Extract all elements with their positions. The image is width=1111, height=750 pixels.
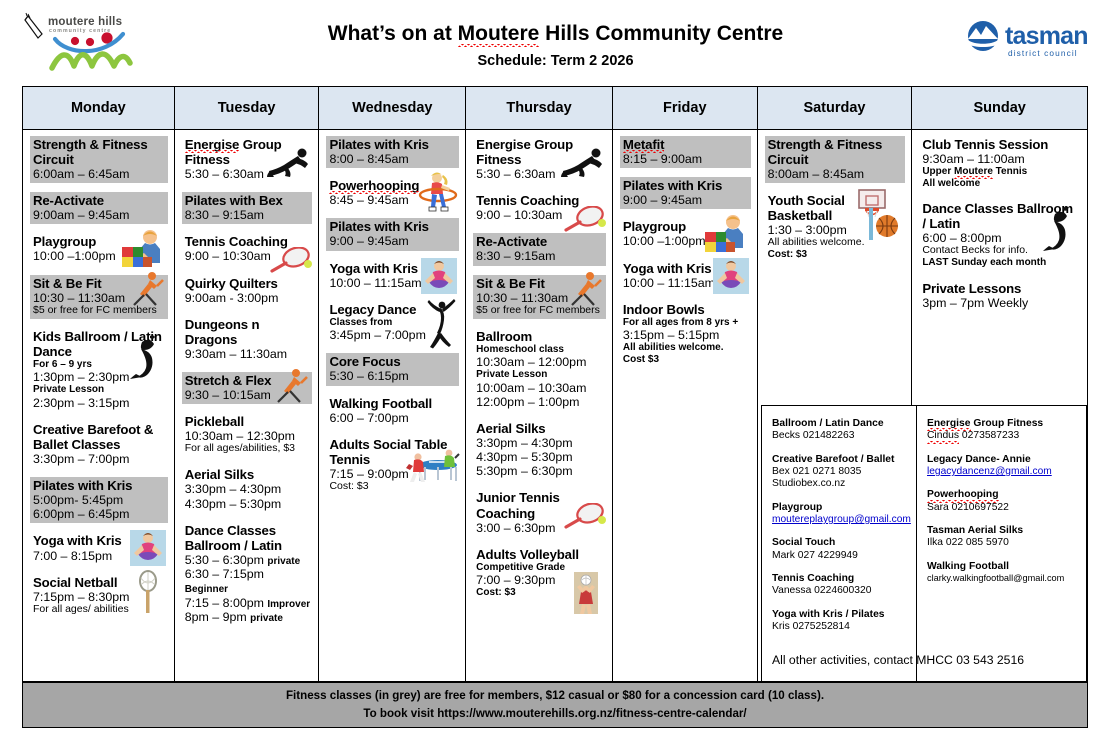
event-note: Contact Becks for info. xyxy=(922,245,1079,257)
event-title: Adults Volleyball xyxy=(476,547,604,562)
contacts-column-left: Ballroom / Latin DanceBecks 021482263Cre… xyxy=(762,406,917,681)
event-title: Yoga with Kris xyxy=(33,533,166,548)
event-note-2: Private Lesson xyxy=(476,369,604,380)
day-events-friday: Metafit8:15 – 9:00amPilates with Kris9:0… xyxy=(613,130,757,681)
event-note: All abilities welcome. xyxy=(768,237,904,249)
event-title: Playgroup xyxy=(33,234,166,249)
schedule-event[interactable]: Quirky Quilters9:00am - 3:00pm xyxy=(182,275,313,307)
event-title: Ballroom xyxy=(476,329,604,344)
day-column-monday: MondayStrength & Fitness Circuit6:00am –… xyxy=(23,87,175,681)
contact-entry: Tennis CoachingVanessa 0224600320 xyxy=(772,573,908,598)
event-time: 8:30 – 9:15am xyxy=(185,208,311,222)
poster-header: moutere hills community centre What’s on… xyxy=(0,0,1111,86)
event-title: Strength & Fitness Circuit xyxy=(33,137,166,167)
event-title: Metafit xyxy=(623,137,749,152)
event-time: 5:30 – 6:30am xyxy=(476,167,604,181)
event-note-2: Cost: $3 xyxy=(476,587,604,598)
schedule-event[interactable]: Tennis Coaching9:00 – 10:30am xyxy=(473,192,606,224)
footer-line-1: Fitness classes (in grey) are free for m… xyxy=(286,687,824,705)
event-time: 9:30am – 11:00am xyxy=(922,152,1079,166)
event-time-3: 7:15 – 8:00pm Improver xyxy=(185,596,311,610)
event-title: Pilates with Kris xyxy=(329,137,457,152)
event-time: 3pm – 7pm Weekly xyxy=(922,296,1079,310)
misspelled-word: Energise xyxy=(927,418,971,430)
event-title: Junior Tennis Coaching xyxy=(476,490,604,520)
event-time: 10:00 – 11:15am xyxy=(329,276,457,290)
day-events-tuesday: Energise Group Fitness5:30 – 6:30amPilat… xyxy=(175,130,319,681)
tasman-mountain-icon xyxy=(963,20,1003,52)
event-title: Dance Classes Ballroom / Latin xyxy=(922,201,1079,231)
day-header-sunday: Sunday xyxy=(912,87,1087,130)
contact-value: Becks 021482263 xyxy=(772,430,908,442)
schedule-event[interactable]: Powerhooping8:45 – 9:45am xyxy=(326,177,459,209)
event-time: 10:30 – 11:30am xyxy=(476,291,604,305)
schedule-event[interactable]: Youth Social Basketball1:30 – 3:00pmAll … xyxy=(765,192,906,263)
schedule-event[interactable]: Re-Activate8:30 – 9:15am xyxy=(473,233,606,265)
event-time-3: 5:30pm – 6:30pm xyxy=(476,464,604,478)
event-title: Pilates with Kris xyxy=(623,178,749,193)
event-title: Energise Group Fitness xyxy=(185,137,311,167)
event-time: 7:15pm – 8:30pm xyxy=(33,590,166,604)
event-time: 9:00 – 10:30am xyxy=(185,249,311,263)
event-title: Playgroup xyxy=(623,219,749,234)
schedule-event[interactable]: Walking Football6:00 – 7:00pm xyxy=(326,395,459,427)
schedule-event[interactable]: Core Focus5:30 – 6:15pm xyxy=(326,353,459,385)
schedule-event[interactable]: Strength & Fitness Circuit6:00am – 6:45a… xyxy=(30,136,168,183)
contact-email-link[interactable]: legacydancenz@gmail.com xyxy=(927,466,1078,478)
page-subtitle: Schedule: Term 2 2026 xyxy=(0,53,1111,69)
day-header-wednesday: Wednesday xyxy=(319,87,465,130)
event-time-suffix: private xyxy=(250,613,283,624)
event-time: 3:45pm – 7:00pm xyxy=(329,328,457,342)
event-time: 8:45 – 9:45am xyxy=(329,193,457,207)
contact-name: Walking Football xyxy=(927,561,1078,573)
event-note-2: LAST Sunday each month xyxy=(922,257,1079,268)
event-note: $5 or free for FC members xyxy=(476,305,604,317)
schedule-event[interactable]: Strength & Fitness Circuit8:00am – 8:45a… xyxy=(765,136,906,183)
contacts-column-right: Energise Group FitnessCindus 0273587233L… xyxy=(917,406,1086,681)
event-time-suffix: private xyxy=(267,556,300,567)
schedule-event[interactable]: Adults Social Table Tennis7:15 – 9:00pmC… xyxy=(326,436,459,495)
event-title: Indoor Bowls xyxy=(623,302,749,317)
schedule-event[interactable]: Tennis Coaching9:00 – 10:30am xyxy=(182,233,313,265)
event-time: 10:00 –1:00pm xyxy=(33,249,166,263)
contact-value: Bex 021 0271 8035 xyxy=(772,466,908,478)
schedule-event[interactable]: Energise Group Fitness5:30 – 6:30am xyxy=(182,136,313,183)
event-title: Stretch & Flex xyxy=(185,373,311,388)
event-time: 7:00 – 9:30pm xyxy=(476,573,604,587)
schedule-event[interactable]: Dance Classes Ballroom / Latin5:30 – 6:3… xyxy=(182,522,313,627)
day-column-tuesday: TuesdayEnergise Group Fitness5:30 – 6:30… xyxy=(175,87,320,681)
event-time: 8:30 – 9:15am xyxy=(476,249,604,263)
contact-name: Powerhooping xyxy=(927,489,1078,501)
misspelled-word: Moutere xyxy=(954,166,993,177)
schedule-event[interactable]: Pilates with Bex8:30 – 9:15am xyxy=(182,192,313,224)
event-time: 10:30am – 12:00pm xyxy=(476,355,604,369)
contact-name: Ballroom / Latin Dance xyxy=(772,418,908,430)
event-time-suffix: Beginner xyxy=(185,584,228,595)
schedule-event[interactable]: Dance Classes Ballroom / Latin6:00 – 8:0… xyxy=(919,200,1081,271)
day-events-thursday: Energise Group Fitness5:30 – 6:30amTenni… xyxy=(466,130,612,681)
event-note-2: Private Lesson xyxy=(33,384,166,395)
event-title: Aerial Silks xyxy=(476,421,604,436)
event-title: Youth Social Basketball xyxy=(768,193,904,223)
event-time: 9:00 – 10:30am xyxy=(476,208,604,222)
event-time-2: 2:30pm – 3:15pm xyxy=(33,396,166,410)
event-time: 3:15pm – 5:15pm xyxy=(623,328,749,342)
event-time: 10:30 – 11:30am xyxy=(33,291,166,305)
event-time: 9:30am – 11:30am xyxy=(185,347,311,361)
event-time: 3:30pm – 4:30pm xyxy=(476,436,604,450)
event-time: 7:15 – 9:00pm xyxy=(329,467,457,481)
title-part-2: Hills Community Centre xyxy=(539,22,783,45)
schedule-event[interactable]: Private Lessons3pm – 7pm Weekly xyxy=(919,280,1081,312)
contact-entry: Energise Group FitnessCindus 0273587233 xyxy=(927,418,1078,443)
event-title: Re-Activate xyxy=(476,234,604,249)
event-note: For all ages/abilities, $3 xyxy=(185,443,311,455)
schedule-event[interactable]: Pilates with Kris5:00pm- 5:45pm6:00pm – … xyxy=(30,477,168,523)
misspelled-word: Cindus xyxy=(927,430,959,442)
event-title: Powerhooping xyxy=(329,178,457,193)
contacts-panel: Ballroom / Latin DanceBecks 021482263Cre… xyxy=(761,405,1087,682)
event-title: Tennis Coaching xyxy=(476,193,604,208)
event-time-2: 4:30pm – 5:30pm xyxy=(476,450,604,464)
contact-name: Social Touch xyxy=(772,537,908,549)
event-note: Cost: $3 xyxy=(329,481,457,493)
contact-entry: Walking Footballclarky.walkingfootball@g… xyxy=(927,561,1078,584)
schedule-event[interactable]: Adults VolleyballCompetitive Grade7:00 –… xyxy=(473,546,606,601)
event-time: 6:00 – 7:00pm xyxy=(329,411,457,425)
event-title: Yoga with Kris xyxy=(329,261,457,276)
event-time: 5:00pm- 5:45pm xyxy=(33,493,166,507)
pricing-footer: Fitness classes (in grey) are free for m… xyxy=(22,682,1088,728)
schedule-event[interactable]: Stretch & Flex9:30 – 10:15am xyxy=(182,372,313,404)
misspelled-word: Powerhooping xyxy=(927,489,999,501)
event-title: Sit & Be Fit xyxy=(33,276,166,291)
contact-value: Vanessa 0224600320 xyxy=(772,585,908,597)
event-time: 10:00 –1:00pm xyxy=(623,234,749,248)
event-title: Pilates with Kris xyxy=(329,219,457,234)
contact-value: clarky.walkingfootball@gmail.com xyxy=(927,573,1078,584)
event-title: Private Lessons xyxy=(922,281,1079,296)
day-header-tuesday: Tuesday xyxy=(175,87,319,130)
event-title: Core Focus xyxy=(329,354,457,369)
event-title: Dance Classes Ballroom / Latin xyxy=(185,523,311,553)
title-misspelled-word: Moutere xyxy=(458,22,540,46)
misspelled-word: Powerhooping xyxy=(329,178,419,193)
schedule-event[interactable]: Sit & Be Fit10:30 – 11:30am$5 or free fo… xyxy=(473,275,606,319)
schedule-event[interactable]: Dungeons n Dragons9:30am – 11:30am xyxy=(182,316,313,363)
event-title: Yoga with Kris xyxy=(623,261,749,276)
contact-name: Energise Group Fitness xyxy=(927,418,1078,430)
day-column-friday: FridayMetafit8:15 – 9:00amPilates with K… xyxy=(613,87,758,681)
event-time: 1:30pm – 2:30pm xyxy=(33,370,166,384)
schedule-event[interactable]: Kids Ballroom / Latin DanceFor 6 – 9 yrs… xyxy=(30,328,168,412)
event-time: 8:00 – 8:45am xyxy=(329,152,457,166)
contact-value: Mark 027 4229949 xyxy=(772,550,908,562)
event-note-2: All abilities welcome. xyxy=(623,342,749,353)
contact-name: Creative Barefoot / Ballet xyxy=(772,454,908,466)
event-time: 9:00 – 9:45am xyxy=(329,234,457,248)
event-time: 9:30 – 10:15am xyxy=(185,388,311,402)
event-title: Pickleball xyxy=(185,414,311,429)
misspelled-word: Metafit xyxy=(623,137,664,152)
schedule-event[interactable]: Re-Activate9:00am – 9:45am xyxy=(30,192,168,224)
event-note-2: All welcome xyxy=(922,178,1079,189)
event-time-2: 10:00am – 10:30am xyxy=(476,381,604,395)
schedule-event[interactable]: BallroomHomeschool class10:30am – 12:00p… xyxy=(473,328,606,411)
tasman-logo-tagline: district council xyxy=(1008,48,1078,58)
event-time: 6:00am – 6:45am xyxy=(33,167,166,181)
event-note: Competitive Grade xyxy=(476,562,604,573)
footer-line-2: To book visit https://www.mouterehills.o… xyxy=(363,705,746,723)
event-time: 9:00am – 9:45am xyxy=(33,208,166,222)
event-time: 9:00 – 9:45am xyxy=(623,193,749,207)
contact-value-2: Studiobex.co.nz xyxy=(772,478,908,490)
event-title: Kids Ballroom / Latin Dance xyxy=(33,329,166,359)
event-title: Adults Social Table Tennis xyxy=(329,437,457,467)
schedule-event[interactable]: Indoor BowlsFor all ages from 8 yrs +3:1… xyxy=(620,301,751,367)
schedule-event[interactable]: Pilates with Kris9:00 – 9:45am xyxy=(620,177,751,209)
day-events-wednesday: Pilates with Kris8:00 – 8:45amPowerhoopi… xyxy=(319,130,465,681)
event-title: Quirky Quilters xyxy=(185,276,311,291)
contact-entry: Creative Barefoot / BalletBex 021 0271 8… xyxy=(772,454,908,491)
event-title: Legacy Dance xyxy=(329,302,457,317)
day-header-friday: Friday xyxy=(613,87,757,130)
event-title: Pilates with Kris xyxy=(33,478,166,493)
schedule-event[interactable]: Sit & Be Fit10:30 – 11:30am$5 or free fo… xyxy=(30,275,168,319)
schedule-event[interactable]: Social Netball7:15pm – 8:30pmFor all age… xyxy=(30,574,168,618)
event-title: Pilates with Bex xyxy=(185,193,311,208)
event-time: 3:30pm – 4:30pm xyxy=(185,482,311,496)
event-time: 5:30 – 6:30pm private xyxy=(185,553,311,567)
contact-entry: Tasman Aerial SilksIlka 022 085 5970 xyxy=(927,525,1078,550)
contacts-footnote: All other activities, contact MHCC 03 54… xyxy=(772,653,1024,667)
schedule-event[interactable]: Energise Group Fitness5:30 – 6:30am xyxy=(473,136,606,183)
event-time: 8:15 – 9:00am xyxy=(623,152,749,166)
event-note: Upper Moutere Tennis xyxy=(922,166,1079,177)
event-time: 5:30 – 6:15pm xyxy=(329,369,457,383)
contact-name: Legacy Dance- Annie xyxy=(927,454,1078,466)
event-time: 9:00am - 3:00pm xyxy=(185,291,311,305)
schedule-event[interactable]: Playgroup10:00 –1:00pm xyxy=(620,218,751,250)
event-time: 1:30 – 3:00pm xyxy=(768,223,904,237)
schedule-event[interactable]: Yoga with Kris10:00 – 11:15am xyxy=(326,260,459,292)
contact-name: Playgroup xyxy=(772,502,908,514)
contact-value: Ilka 022 085 5970 xyxy=(927,537,1078,549)
schedule-event[interactable]: Legacy DanceClasses from3:45pm – 7:00pm xyxy=(326,301,459,345)
day-column-wednesday: WednesdayPilates with Kris8:00 – 8:45amP… xyxy=(319,87,466,681)
event-title: Dungeons n Dragons xyxy=(185,317,311,347)
contact-email-link[interactable]: moutereplaygroup@gmail.com xyxy=(772,514,908,526)
event-title: Strength & Fitness Circuit xyxy=(768,137,904,167)
contact-entry: Legacy Dance- Annielegacydancenz@gmail.c… xyxy=(927,454,1078,479)
event-title: Re-Activate xyxy=(33,193,166,208)
schedule-event[interactable]: Junior Tennis Coaching3:00 – 6:30pm xyxy=(473,489,606,536)
event-title: Sit & Be Fit xyxy=(476,276,604,291)
schedule-event[interactable]: Aerial Silks3:30pm – 4:30pm4:30pm – 5:30… xyxy=(473,420,606,480)
schedule-event[interactable]: Pickleball10:30am – 12:30pmFor all ages/… xyxy=(182,413,313,457)
contact-entry: PowerhoopingSara 0210697522 xyxy=(927,489,1078,514)
day-column-thursday: ThursdayEnergise Group Fitness5:30 – 6:3… xyxy=(466,87,613,681)
event-time-4: 8pm – 9pm private xyxy=(185,610,311,624)
schedule-event[interactable]: Yoga with Kris10:00 – 11:15am xyxy=(620,260,751,292)
schedule-event[interactable]: Yoga with Kris7:00 – 8:15pm xyxy=(30,532,168,564)
contact-entry: Playgroupmoutereplaygroup@gmail.com xyxy=(772,502,908,527)
event-time: 6:00 – 8:00pm xyxy=(922,231,1079,245)
event-note-3: Cost $3 xyxy=(623,354,749,365)
contact-name: Tennis Coaching xyxy=(772,573,908,585)
contact-entry: Ballroom / Latin DanceBecks 021482263 xyxy=(772,418,908,443)
schedule-event[interactable]: Club Tennis Session9:30am – 11:00amUpper… xyxy=(919,136,1081,191)
schedule-event[interactable]: Pilates with Kris8:00 – 8:45am xyxy=(326,136,459,168)
event-note: For 6 – 9 yrs xyxy=(33,359,166,370)
day-header-monday: Monday xyxy=(23,87,174,130)
schedule-event[interactable]: Aerial Silks3:30pm – 4:30pm4:30pm – 5:30… xyxy=(182,466,313,512)
misspelled-word: Energise xyxy=(185,137,240,152)
tasman-district-council-logo: tasman district council xyxy=(963,16,1093,68)
contact-entry: Yoga with Kris / PilatesKris 0275252814 xyxy=(772,609,908,634)
event-time-3: 12:00pm – 1:00pm xyxy=(476,395,604,409)
event-time-2: 6:30 – 7:15pm Beginner xyxy=(185,567,311,596)
title-part-1: What’s on at xyxy=(328,22,458,45)
schedule-event[interactable]: Creative Barefoot & Ballet Classes3:30pm… xyxy=(30,421,168,468)
event-title: Social Netball xyxy=(33,575,166,590)
schedule-event[interactable]: Playgroup10:00 –1:00pm xyxy=(30,233,168,265)
schedule-event[interactable]: Pilates with Kris9:00 – 9:45am xyxy=(326,218,459,250)
tasman-logo-name: tasman xyxy=(1005,24,1088,49)
event-title: Energise Group Fitness xyxy=(476,137,604,167)
event-time: 3:30pm – 7:00pm xyxy=(33,452,166,466)
event-note: Homeschool class xyxy=(476,344,604,355)
contact-value: Sara 0210697522 xyxy=(927,502,1078,514)
event-time: 3:00 – 6:30pm xyxy=(476,521,604,535)
event-title: Club Tennis Session xyxy=(922,137,1079,152)
event-time: 10:30am – 12:30pm xyxy=(185,429,311,443)
day-events-monday: Strength & Fitness Circuit6:00am – 6:45a… xyxy=(23,130,174,681)
event-title: Walking Football xyxy=(329,396,457,411)
event-note: For all ages/ abilities xyxy=(33,604,166,616)
contact-name: Yoga with Kris / Pilates xyxy=(772,609,908,621)
contact-value: Cindus 0273587233 xyxy=(927,430,1078,442)
event-time-2: 4:30pm – 5:30pm xyxy=(185,497,311,511)
event-time: 10:00 – 11:15am xyxy=(623,276,749,290)
day-header-saturday: Saturday xyxy=(758,87,912,130)
event-title: Creative Barefoot & Ballet Classes xyxy=(33,422,166,452)
event-time: 7:00 – 8:15pm xyxy=(33,549,166,563)
event-time: 8:00am – 8:45am xyxy=(768,167,904,181)
event-time: 5:30 – 6:30am xyxy=(185,167,311,181)
contact-value: Kris 0275252814 xyxy=(772,621,908,633)
contact-name: Tasman Aerial Silks xyxy=(927,525,1078,537)
event-time-2: 6:00pm – 6:45pm xyxy=(33,507,166,521)
event-title: Tennis Coaching xyxy=(185,234,311,249)
schedule-event[interactable]: Metafit8:15 – 9:00am xyxy=(620,136,751,168)
event-note: $5 or free for FC members xyxy=(33,305,166,317)
contact-entry: Social TouchMark 027 4229949 xyxy=(772,537,908,562)
event-note: For all ages from 8 yrs + xyxy=(623,317,749,328)
page-title: What’s on at Moutere Hills Community Cen… xyxy=(0,22,1111,46)
schedule-poster: moutere hills community centre What’s on… xyxy=(0,0,1111,750)
event-note: Classes from xyxy=(329,317,457,328)
event-title: Aerial Silks xyxy=(185,467,311,482)
event-time-suffix: Improver xyxy=(267,599,310,610)
day-header-thursday: Thursday xyxy=(466,87,612,130)
event-note-2: Cost: $3 xyxy=(768,249,904,260)
